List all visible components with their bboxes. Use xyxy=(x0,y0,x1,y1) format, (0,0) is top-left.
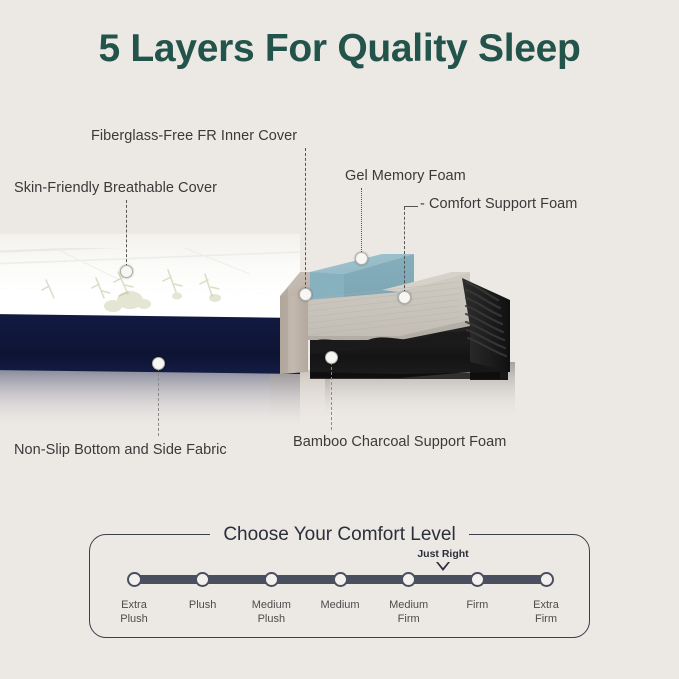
leader-line-inner-cover xyxy=(305,148,306,290)
callout-label-comfort-foam: - Comfort Support Foam xyxy=(420,196,577,212)
callout-label-skin-cover: Skin-Friendly Breathable Cover xyxy=(14,180,217,196)
infographic-canvas: 5 Layers For Quality Sleep xyxy=(0,0,679,679)
marker-nonslip xyxy=(152,357,165,370)
comfort-level-dot[interactable] xyxy=(333,572,348,587)
leader-line-gel-foam xyxy=(361,188,362,254)
comfort-title-wrap: Choose Your Comfort Level xyxy=(0,524,679,546)
marker-inner-cover xyxy=(299,288,312,301)
mattress-cutaway-illustration xyxy=(0,222,679,452)
marker-bamboo xyxy=(325,351,338,364)
comfort-level-dot[interactable] xyxy=(127,572,142,587)
page-title: 5 Layers For Quality Sleep xyxy=(0,27,679,71)
callout-label-bamboo: Bamboo Charcoal Support Foam xyxy=(293,434,506,450)
leader-line-comfort-foam xyxy=(404,207,405,293)
comfort-level-dot[interactable] xyxy=(264,572,279,587)
comfort-level-label: ExtraFirm xyxy=(504,599,588,626)
comfort-panel-title: Choose Your Comfort Level xyxy=(210,524,468,546)
callout-label-gel-foam: Gel Memory Foam xyxy=(345,168,466,184)
leader-line-nonslip xyxy=(158,368,159,436)
leader-line-bamboo xyxy=(331,362,332,430)
callout-label-inner-cover: Fiberglass-Free FR Inner Cover xyxy=(91,128,297,144)
marker-gel-foam xyxy=(355,252,368,265)
callout-label-nonslip: Non-Slip Bottom and Side Fabric xyxy=(14,442,227,458)
leader-line-skin-cover xyxy=(126,200,127,267)
marker-skin-cover xyxy=(120,265,133,278)
just-right-arrow-icon xyxy=(436,562,450,571)
just-right-label: Just Right xyxy=(383,548,503,560)
comfort-level-dot[interactable] xyxy=(470,572,485,587)
marker-comfort-foam xyxy=(398,291,411,304)
comfort-level-dot[interactable] xyxy=(539,572,554,587)
leader-elbow-comfort-foam xyxy=(404,206,418,207)
